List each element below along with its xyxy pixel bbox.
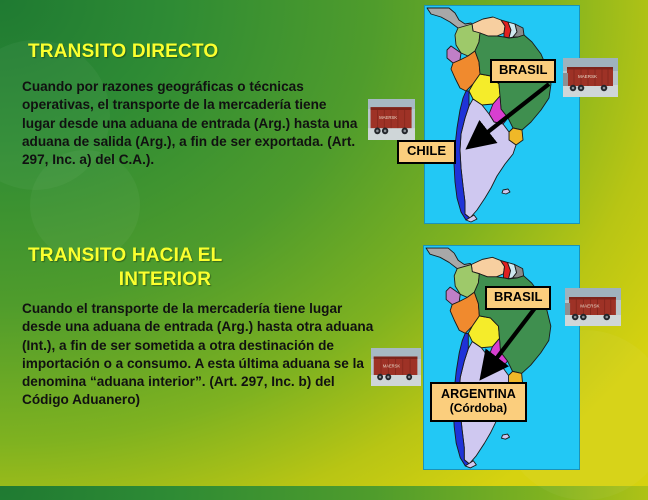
section2-body: Cuando el transporte de la mercadería ti… (22, 300, 374, 410)
map-label-argentina-sub: (Córdoba) (441, 402, 516, 415)
truck-photo-bottom-right: MAERSK (565, 288, 621, 326)
map-label-brasil-bottom[interactable]: BRASIL (485, 286, 551, 310)
south-america-map-top (425, 6, 579, 223)
container-truck-icon: MAERSK (368, 99, 415, 140)
text-column: TRANSITO DIRECTO Cuando por razones geog… (0, 0, 400, 486)
section1-body: Cuando por razones geográficas o técnica… (22, 78, 362, 169)
svg-text:MAERSK: MAERSK (383, 363, 400, 368)
container-truck-icon: MAERSK (563, 58, 618, 97)
map-panel-transito-directo[interactable] (424, 5, 580, 224)
south-america-map-bottom (424, 246, 579, 469)
map-label-argentina-main: ARGENTINA (441, 387, 516, 401)
container-truck-icon: MAERSK (565, 288, 621, 326)
map-label-chile[interactable]: CHILE (397, 140, 456, 164)
map-panel-transito-interior[interactable] (423, 245, 580, 470)
section2-heading-line2: INTERIOR (28, 268, 358, 292)
container-truck-icon: MAERSK (371, 348, 421, 386)
section2-heading: TRANSITO HACIA EL INTERIOR (28, 244, 358, 292)
svg-text:MAERSK: MAERSK (379, 115, 397, 120)
map-label-argentina[interactable]: ARGENTINA (Córdoba) (430, 382, 527, 422)
truck-photo-bottom-left: MAERSK (371, 348, 421, 386)
truck-photo-top-left: MAERSK (368, 99, 415, 140)
islands-malvinas (502, 434, 510, 439)
svg-text:MAERSK: MAERSK (578, 74, 597, 79)
islands-malvinas (502, 189, 510, 194)
svg-text:MAERSK: MAERSK (580, 304, 599, 309)
section1-heading: TRANSITO DIRECTO (28, 40, 218, 64)
map-label-brasil-top[interactable]: BRASIL (490, 59, 556, 83)
truck-photo-top-right: MAERSK (563, 58, 618, 97)
section2-heading-line1: TRANSITO HACIA EL (28, 245, 222, 266)
